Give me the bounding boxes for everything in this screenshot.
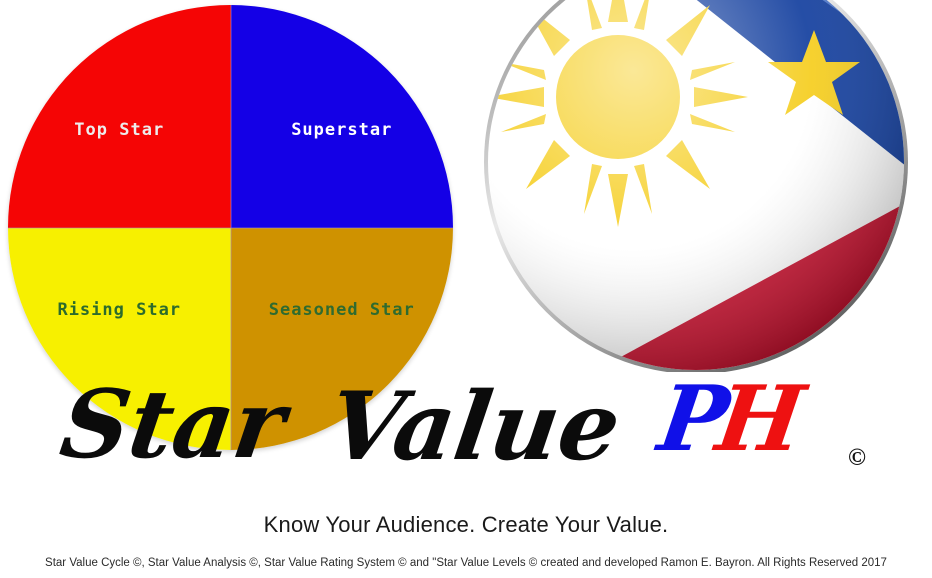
poster-canvas: Top Star Superstar Rising Star Seasoned … xyxy=(0,0,932,578)
pie-slice-superstar[interactable] xyxy=(231,5,454,228)
footer-legal-text: Star Value Cycle ©, Star Value Analysis … xyxy=(0,557,932,569)
pie-slice-seasoned-star[interactable] xyxy=(231,228,454,451)
brand-letter-p: P xyxy=(654,374,734,464)
pie-slice-top-star[interactable] xyxy=(8,5,231,228)
copyright-icon: © xyxy=(848,446,866,470)
pie-slice-rising-star[interactable] xyxy=(8,228,231,451)
star-value-cycle-chart: Top Star Superstar Rising Star Seasoned … xyxy=(8,5,453,450)
brand-letter-h: H xyxy=(712,374,810,464)
philippines-flag-icon xyxy=(466,0,926,372)
pie-divider-horizontal xyxy=(8,227,453,228)
philippines-flag-badge xyxy=(466,0,926,372)
tagline: Know Your Audience. Create Your Value. xyxy=(0,512,932,538)
pie-disc: Top Star Superstar Rising Star Seasoned … xyxy=(8,5,453,450)
